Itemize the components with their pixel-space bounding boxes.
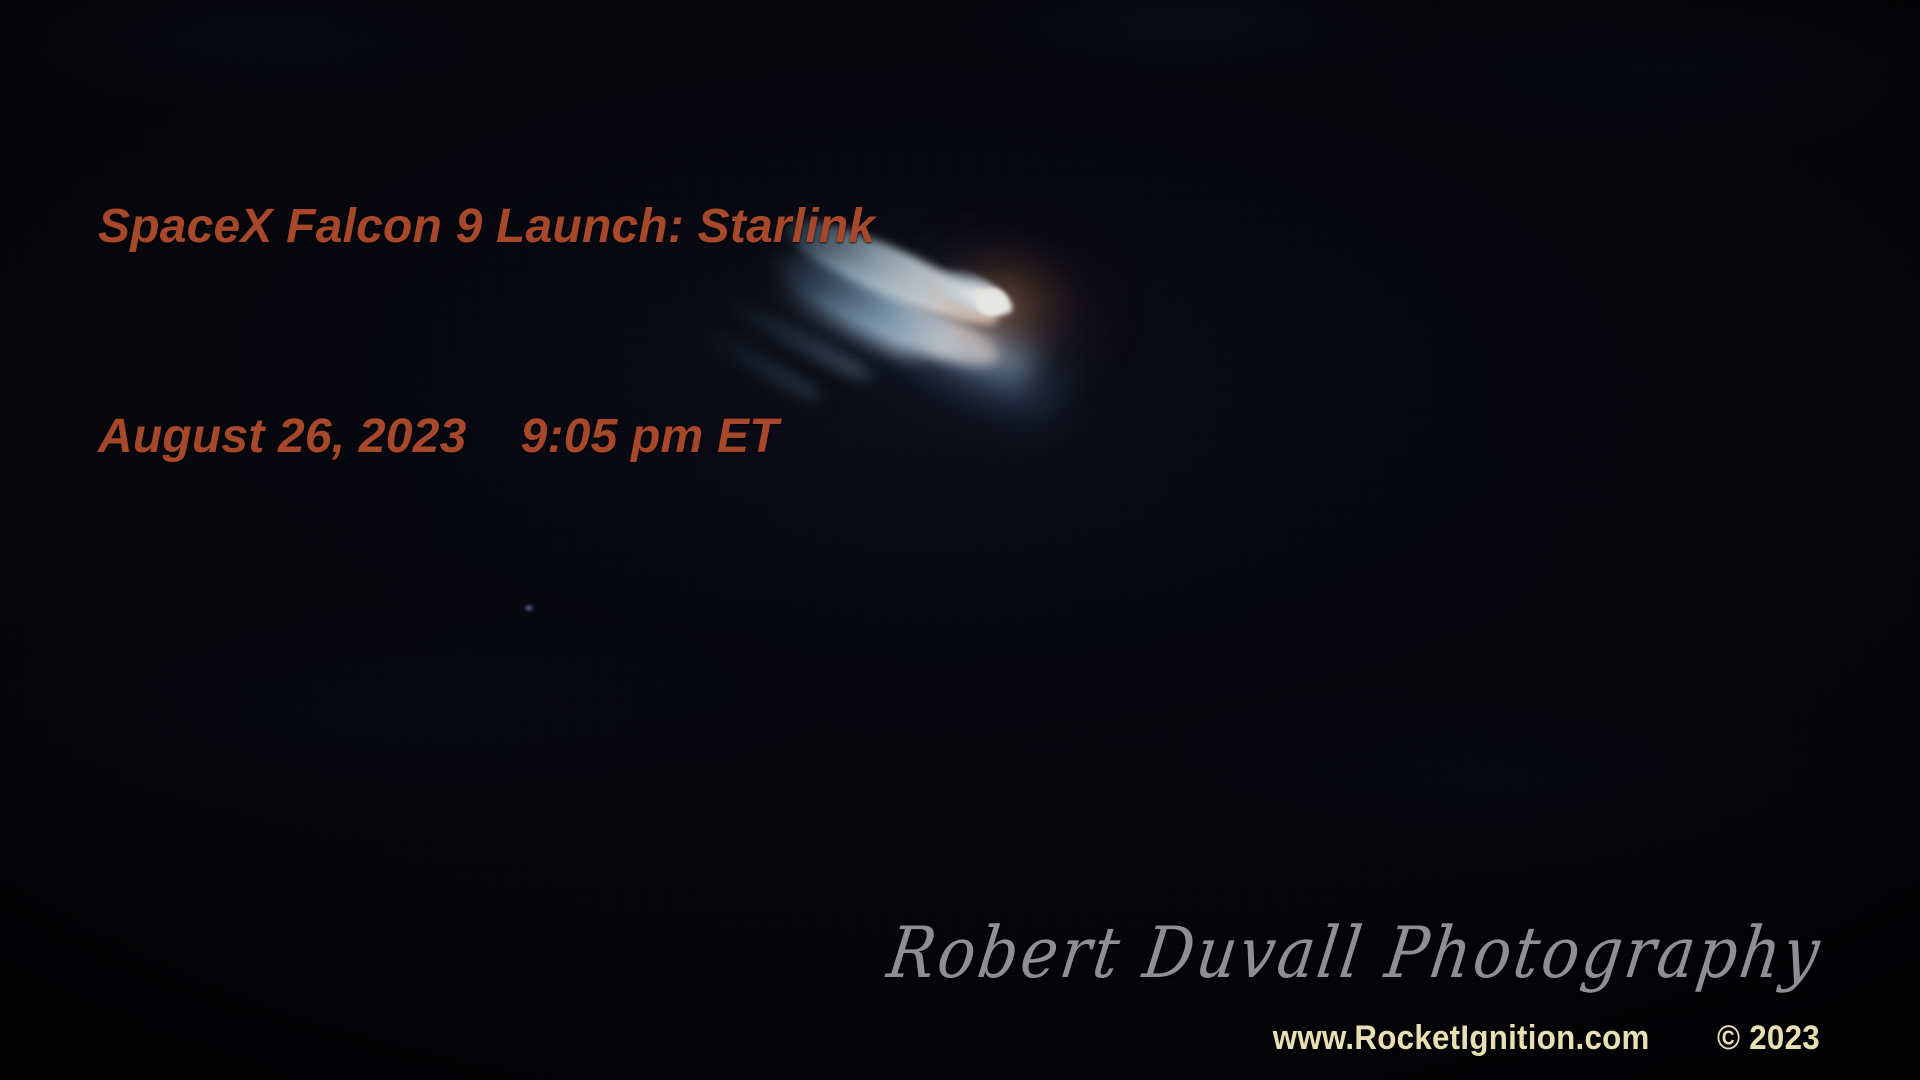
photograph-canvas: SpaceX Falcon 9 Launch: Starlink August … [0, 0, 1920, 1080]
caption-date-line: August 26, 2023 9:05 pm ET [98, 402, 875, 472]
credit-row: www.RocketIgnition.com © 2023 [1240, 1019, 1820, 1058]
photo-caption: SpaceX Falcon 9 Launch: Starlink August … [98, 52, 875, 612]
caption-title-line: SpaceX Falcon 9 Launch: Starlink [98, 192, 875, 262]
copyright-notice: © 2023 [1717, 1019, 1820, 1058]
website-url: www.RocketIgnition.com [1273, 1019, 1650, 1058]
photographer-signature: Robert Duvall Photography [883, 911, 1828, 994]
